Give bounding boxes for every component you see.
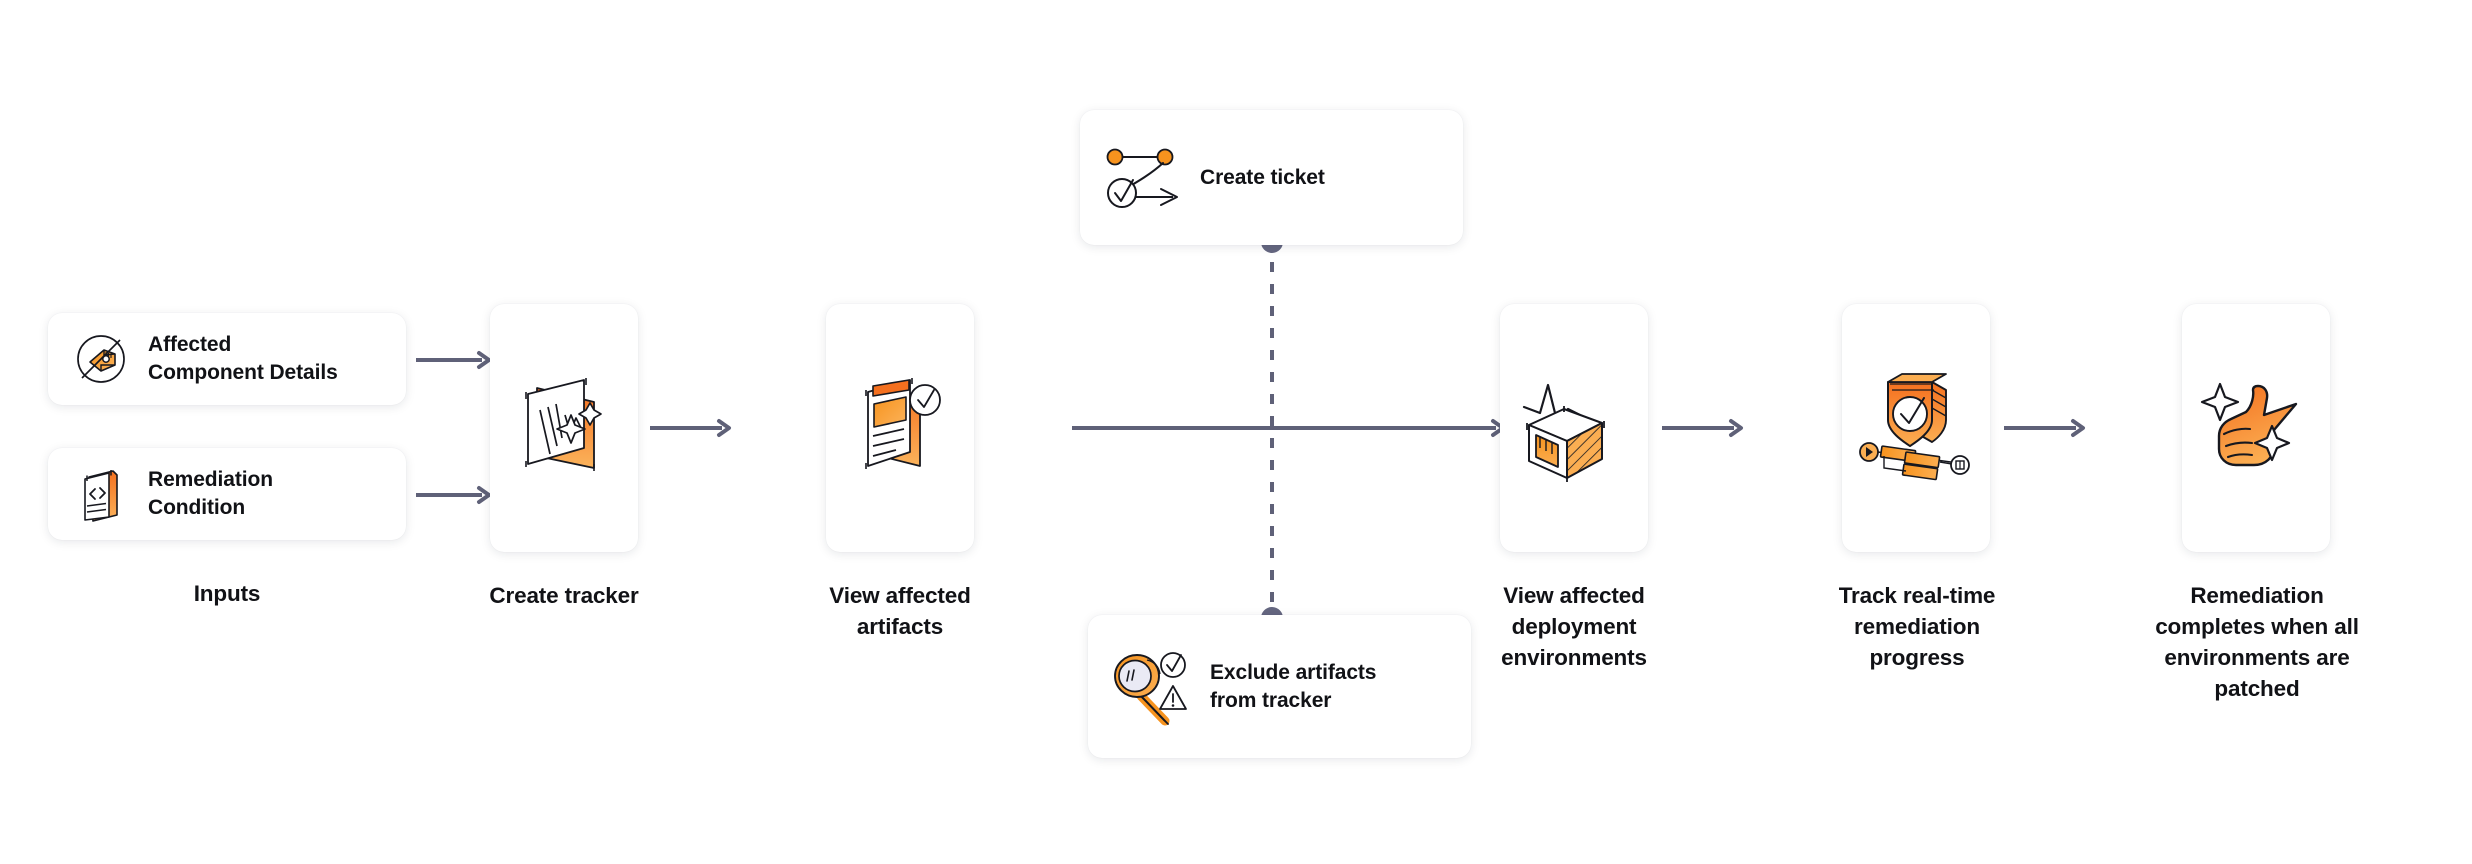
create-tracker-icon bbox=[510, 372, 618, 484]
input-label-line1: Affected bbox=[148, 333, 231, 356]
step-label-line: remediation bbox=[1854, 614, 1980, 639]
step-label-create-tracker: Create tracker bbox=[452, 580, 676, 611]
step-label-line: deployment bbox=[1512, 614, 1637, 639]
step-label-view-affected-artifacts: View affected artifacts bbox=[788, 580, 1012, 642]
input-card-label: Remediation Condition bbox=[148, 466, 273, 521]
affected-artifacts-icon bbox=[846, 370, 954, 486]
step-label-line: Track real-time bbox=[1839, 583, 1996, 608]
step-card-track-remediation-progress[interactable] bbox=[1842, 304, 1990, 552]
affected-component-icon bbox=[68, 326, 134, 392]
arrow-view-environments-to-track-progress bbox=[1662, 418, 1746, 438]
step-label-line: Remediation bbox=[2190, 583, 2323, 608]
side-label-line: Exclude artifacts bbox=[1210, 661, 1376, 684]
side-card-label: Exclude artifacts from tracker bbox=[1210, 659, 1376, 714]
step-label-line: progress bbox=[1869, 645, 1964, 670]
step-label-line: completes when all bbox=[2155, 614, 2359, 639]
input-label-line2: Condition bbox=[148, 496, 245, 519]
remediation-condition-icon bbox=[68, 461, 134, 527]
step-label-view-deployment-environments: View affected deployment environments bbox=[1444, 580, 1704, 673]
create-ticket-icon bbox=[1102, 142, 1184, 214]
step-label-line: View affected bbox=[1503, 583, 1644, 608]
step-label-line: environments bbox=[1501, 645, 1647, 670]
input-card-remediation-condition[interactable]: Remediation Condition bbox=[48, 448, 406, 540]
side-card-label: Create ticket bbox=[1200, 164, 1325, 192]
arrow-input1-to-create-tracker bbox=[416, 350, 494, 370]
arrow-track-progress-to-remediation-complete bbox=[2004, 418, 2088, 438]
step-label-line: artifacts bbox=[857, 614, 943, 639]
arrow-input2-to-create-tracker bbox=[416, 485, 494, 505]
input-card-affected-component[interactable]: Affected Component Details bbox=[48, 313, 406, 405]
inputs-group-label: Inputs bbox=[48, 578, 406, 609]
step-label-line: patched bbox=[2214, 676, 2299, 701]
side-label-line: from tracker bbox=[1210, 689, 1331, 712]
side-card-exclude-artifacts[interactable]: Exclude artifacts from tracker bbox=[1088, 615, 1471, 758]
dashed-branch-connector bbox=[1262, 230, 1282, 630]
input-label-line2: Component Details bbox=[148, 361, 338, 384]
step-card-remediation-complete[interactable] bbox=[2182, 304, 2330, 552]
arrow-create-tracker-to-view-artifacts bbox=[650, 418, 734, 438]
exclude-artifacts-icon bbox=[1110, 641, 1194, 733]
step-label-track-remediation-progress: Track real-time remediation progress bbox=[1790, 580, 2044, 673]
side-card-create-ticket[interactable]: Create ticket bbox=[1080, 110, 1463, 245]
thumbs-up-icon bbox=[2200, 378, 2312, 478]
step-label-remediation-complete: Remediation completes when all environme… bbox=[2118, 580, 2396, 704]
deployment-environments-icon bbox=[1514, 365, 1634, 491]
remediation-progress-icon bbox=[1854, 368, 1978, 488]
step-label-line: View affected bbox=[829, 583, 970, 608]
arrow-view-artifacts-to-view-environments bbox=[1072, 418, 1508, 438]
input-card-label: Affected Component Details bbox=[148, 331, 338, 386]
side-label-line: Create ticket bbox=[1200, 166, 1325, 189]
input-label-line1: Remediation bbox=[148, 468, 273, 491]
step-label-line: environments are bbox=[2164, 645, 2349, 670]
step-card-view-affected-artifacts[interactable] bbox=[826, 304, 974, 552]
step-card-create-tracker[interactable] bbox=[490, 304, 638, 552]
step-card-view-deployment-environments[interactable] bbox=[1500, 304, 1648, 552]
